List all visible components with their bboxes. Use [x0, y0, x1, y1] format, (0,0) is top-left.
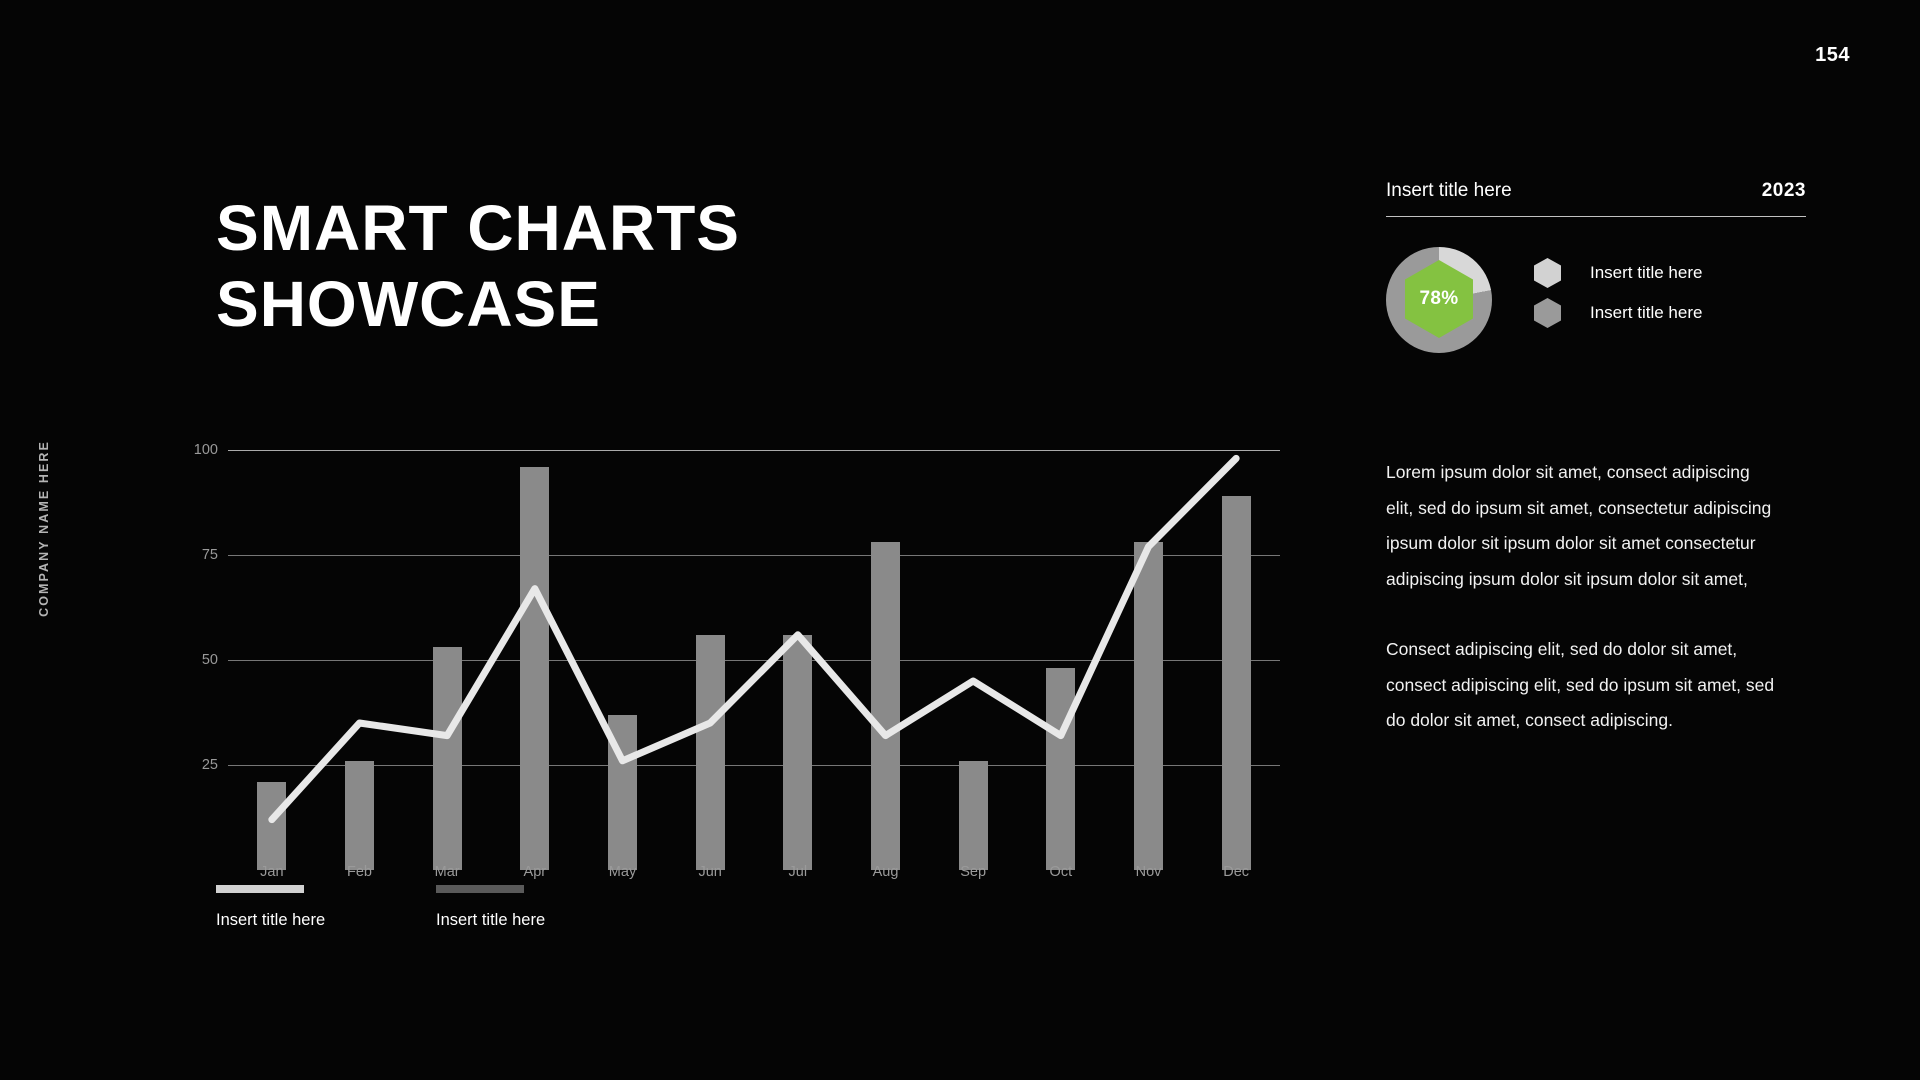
paragraph: Lorem ipsum dolor sit amet, consect adip…	[1386, 455, 1776, 597]
panel-header: Insert title here 2023	[1386, 180, 1806, 202]
donut-legend-item[interactable]: Insert title here	[1534, 253, 1702, 293]
legend-item[interactable]: Insert title here	[436, 885, 596, 930]
x-axis-tick-label: Oct	[1026, 864, 1096, 880]
donut-legend-label: Insert title here	[1590, 263, 1702, 283]
line-series	[228, 450, 1280, 870]
panel-year: 2023	[1762, 180, 1806, 202]
x-axis-tick-label: May	[588, 864, 658, 880]
y-axis-tick-label: 25	[176, 757, 218, 773]
company-name-vertical: COMPANY NAME HERE	[37, 440, 51, 617]
panel-title: Insert title here	[1386, 180, 1512, 202]
x-axis-tick-label: Mar	[412, 864, 482, 880]
hexagon-icon	[1534, 298, 1561, 328]
chart-plot-area	[228, 450, 1280, 870]
x-axis-tick-label: Jun	[675, 864, 745, 880]
donut-legend-item[interactable]: Insert title here	[1534, 293, 1702, 333]
panel-divider	[1386, 216, 1806, 217]
donut-value-label: 78%	[1420, 288, 1459, 310]
donut-chart: 78%	[1386, 247, 1492, 353]
chart-legend: Insert title here Insert title here	[216, 885, 596, 930]
legend-swatch-bars	[436, 885, 524, 893]
donut-legend: Insert title here Insert title here	[1534, 247, 1702, 333]
hexagon-icon	[1534, 258, 1561, 288]
x-axis-tick-label: Dec	[1201, 864, 1271, 880]
combo-chart: 100755025 JanFebMarAprMayJunJulAugSepOct…	[176, 450, 1280, 870]
page-title: SMART CHARTS SHOWCASE	[216, 190, 976, 342]
donut-legend-label: Insert title here	[1590, 303, 1702, 323]
page-number: 154	[1815, 44, 1850, 67]
legend-item[interactable]: Insert title here	[216, 885, 376, 930]
x-axis-tick-label: Sep	[938, 864, 1008, 880]
y-axis-tick-label: 50	[176, 652, 218, 668]
y-axis-tick-label: 100	[176, 442, 218, 458]
legend-item-label: Insert title here	[216, 911, 376, 930]
x-axis-tick-label: Jul	[763, 864, 833, 880]
legend-item-label: Insert title here	[436, 911, 596, 930]
legend-swatch-line	[216, 885, 304, 893]
y-axis-tick-label: 75	[176, 547, 218, 563]
x-axis-tick-label: Aug	[851, 864, 921, 880]
slide-root: 154 COMPANY NAME HERE SMART CHARTS SHOWC…	[0, 0, 1920, 1080]
right-panel: Insert title here 2023 78% Insert title …	[1386, 180, 1806, 353]
paragraph: Consect adipiscing elit, sed do dolor si…	[1386, 632, 1776, 739]
x-axis-tick-label: Jan	[237, 864, 307, 880]
x-axis-tick-label: Feb	[325, 864, 395, 880]
x-axis-tick-label: Apr	[500, 864, 570, 880]
body-copy: Lorem ipsum dolor sit amet, consect adip…	[1386, 455, 1776, 739]
donut-chart-block: 78% Insert title here Insert title here	[1386, 247, 1806, 353]
x-axis-tick-label: Nov	[1114, 864, 1184, 880]
